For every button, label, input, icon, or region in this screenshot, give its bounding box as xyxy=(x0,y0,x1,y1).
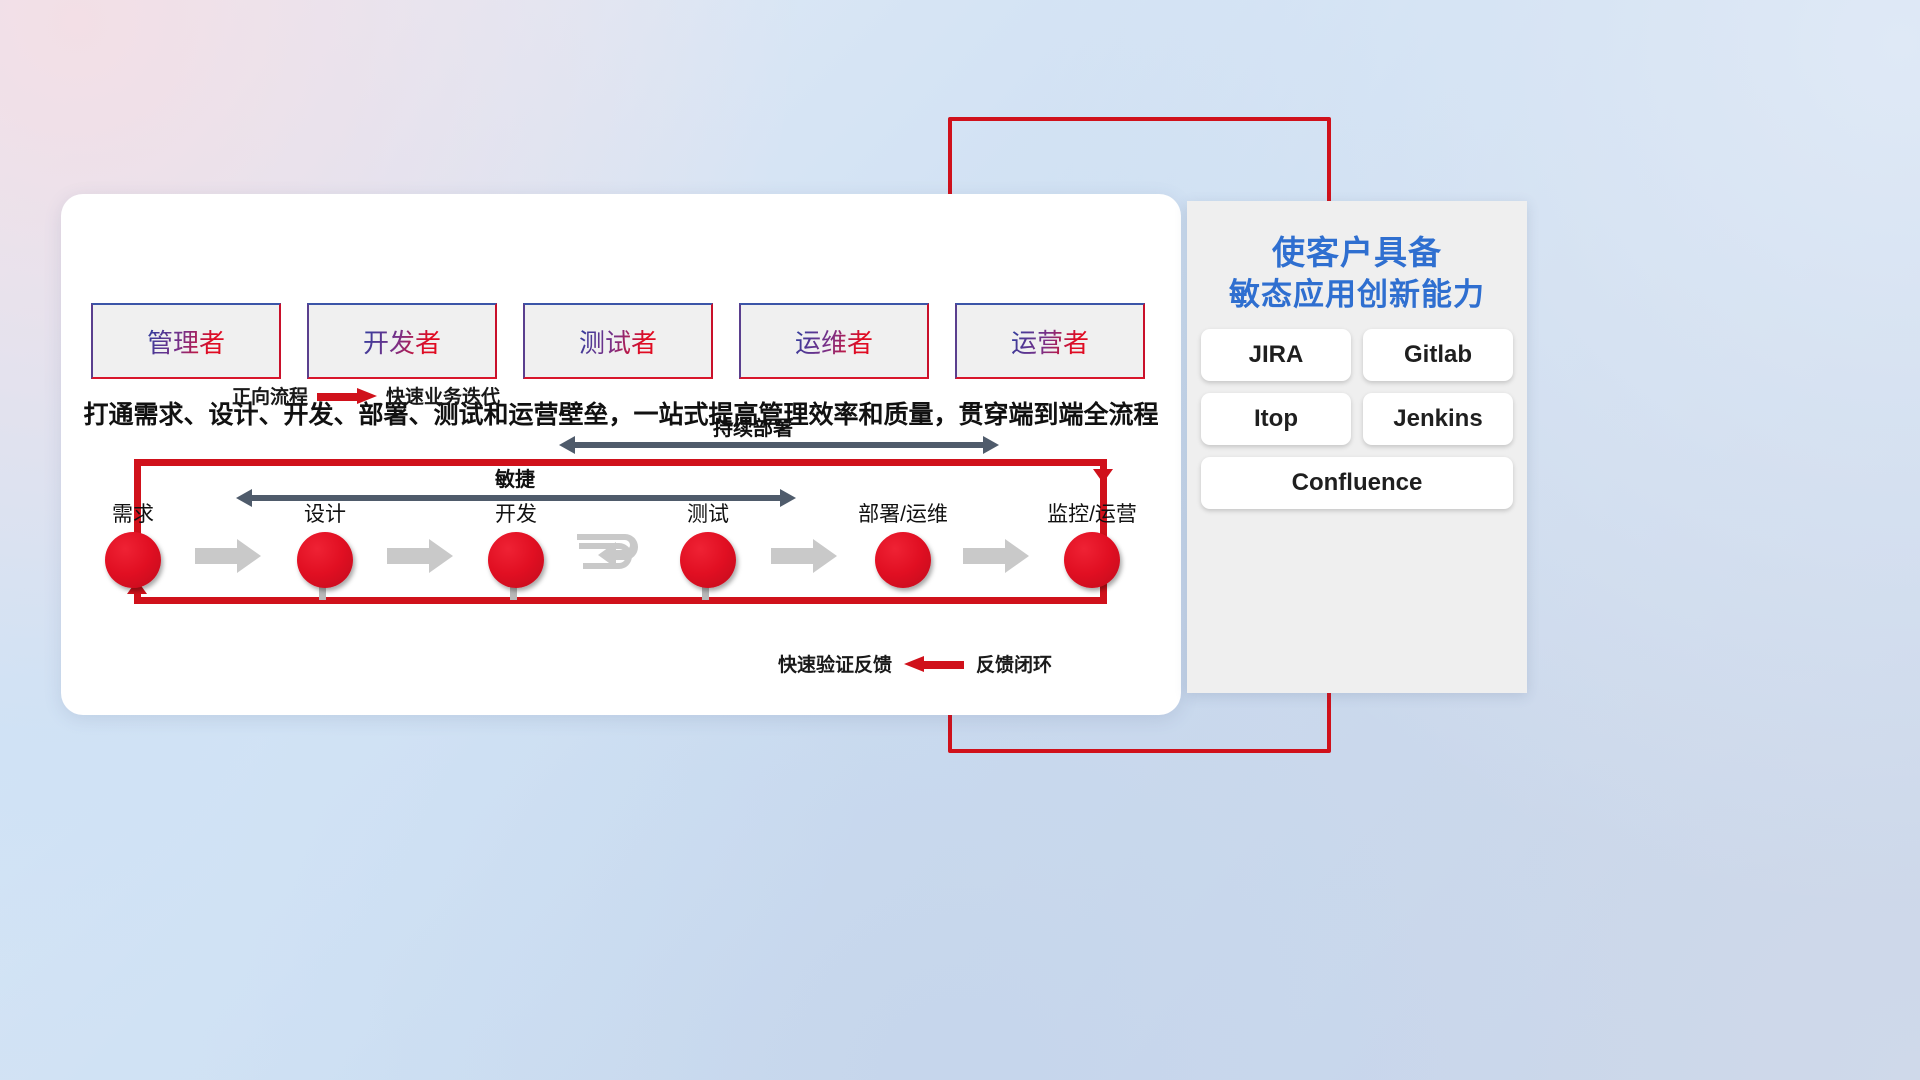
arrow-head-right-icon xyxy=(780,489,796,507)
chevron-right-icon xyxy=(195,539,261,573)
feedback-source-label: 反馈闭环 xyxy=(976,650,1052,677)
panel-title: 使客户具备 敏态应用创新能力 xyxy=(1187,201,1527,315)
forward-flow-source-label: 正向流程 xyxy=(232,382,308,409)
stage-label: 测试 xyxy=(648,498,768,528)
role-box-manager[interactable]: 管理者 xyxy=(91,303,281,379)
tool-chip-label: Confluence xyxy=(1292,469,1423,497)
stage-label: 需求 xyxy=(73,498,193,528)
agile-label: 敏捷 xyxy=(495,463,535,492)
role-label: 开发者 xyxy=(363,323,441,360)
role-boxes: 管理者 开发者 测试者 运维者 运营者 xyxy=(91,303,1145,379)
panel-title-line1: 使客户具备 xyxy=(1187,231,1527,275)
stage-development[interactable]: 开发 xyxy=(456,498,576,588)
stage-label: 监控/运营 xyxy=(1032,498,1152,528)
tool-chip-jenkins[interactable]: Jenkins xyxy=(1363,393,1513,445)
role-label: 测试者 xyxy=(579,323,657,360)
tool-chip-gitlab[interactable]: Gitlab xyxy=(1363,329,1513,381)
stage-requirements[interactable]: 需求 xyxy=(73,498,193,588)
arrow-head-right-icon xyxy=(983,436,999,454)
tool-chip-itop[interactable]: Itop xyxy=(1201,393,1351,445)
tool-chip-label: JIRA xyxy=(1249,341,1304,369)
stage-testing[interactable]: 测试 xyxy=(648,498,768,588)
feedback-annotation: 快速验证反馈 反馈闭环 xyxy=(778,650,1052,677)
stage-dot xyxy=(1064,532,1120,588)
forward-flow-annotation: 正向流程 快速业务迭代 xyxy=(232,382,500,409)
feedback-target-label: 快速验证反馈 xyxy=(778,650,892,677)
forward-flow-target-label: 快速业务迭代 xyxy=(386,382,500,409)
tool-chip-label: Itop xyxy=(1254,405,1298,433)
stage-deploy-ops[interactable]: 部署/运维 xyxy=(843,498,963,588)
stage-monitor-operate[interactable]: 监控/运营 xyxy=(1032,498,1152,588)
tool-chip-jira[interactable]: JIRA xyxy=(1201,329,1351,381)
slide-canvas: 管理者 开发者 测试者 运维者 运营者 打通需求、设计、开发、部署、测试和运营壁… xyxy=(0,0,1920,1080)
role-box-operations[interactable]: 运维者 xyxy=(739,303,929,379)
iteration-loop-icon xyxy=(573,528,659,578)
headline-text: 打通需求、设计、开发、部署、测试和运营壁垒，一站式提高管理效率和质量，贯穿端到端… xyxy=(61,395,1181,431)
role-label: 运营者 xyxy=(1011,323,1089,360)
value-panel: 使客户具备 敏态应用创新能力 JIRA Gitlab Itop Jenkins … xyxy=(1187,201,1527,693)
stage-dot xyxy=(297,532,353,588)
stage-dot xyxy=(875,532,931,588)
chevron-right-icon xyxy=(963,539,1029,573)
stage-dot xyxy=(105,532,161,588)
chevron-right-icon xyxy=(387,539,453,573)
chevron-right-icon xyxy=(771,539,837,573)
red-right-arrow-icon xyxy=(317,388,377,404)
stage-design[interactable]: 设计 xyxy=(265,498,385,588)
tool-chip-label: Gitlab xyxy=(1404,341,1472,369)
role-label: 运维者 xyxy=(795,323,873,360)
tool-chip-list: JIRA Gitlab Itop Jenkins Confluence xyxy=(1187,315,1527,509)
tool-chip-confluence[interactable]: Confluence xyxy=(1201,457,1513,509)
role-box-business-operator[interactable]: 运营者 xyxy=(955,303,1145,379)
stage-label: 设计 xyxy=(265,498,385,528)
stage-label: 开发 xyxy=(456,498,576,528)
main-card: 管理者 开发者 测试者 运维者 运营者 打通需求、设计、开发、部署、测试和运营壁… xyxy=(61,194,1181,715)
role-box-tester[interactable]: 测试者 xyxy=(523,303,713,379)
stage-dot xyxy=(488,532,544,588)
panel-title-line2: 敏态应用创新能力 xyxy=(1187,275,1527,316)
tool-chip-label: Jenkins xyxy=(1393,405,1482,433)
arrow-bar xyxy=(573,442,985,448)
stage-label: 部署/运维 xyxy=(843,498,963,528)
role-box-developer[interactable]: 开发者 xyxy=(307,303,497,379)
role-label: 管理者 xyxy=(147,323,225,360)
continuous-deploy-arrow xyxy=(559,436,999,454)
stage-dot xyxy=(680,532,736,588)
red-left-arrow-icon xyxy=(904,656,964,672)
